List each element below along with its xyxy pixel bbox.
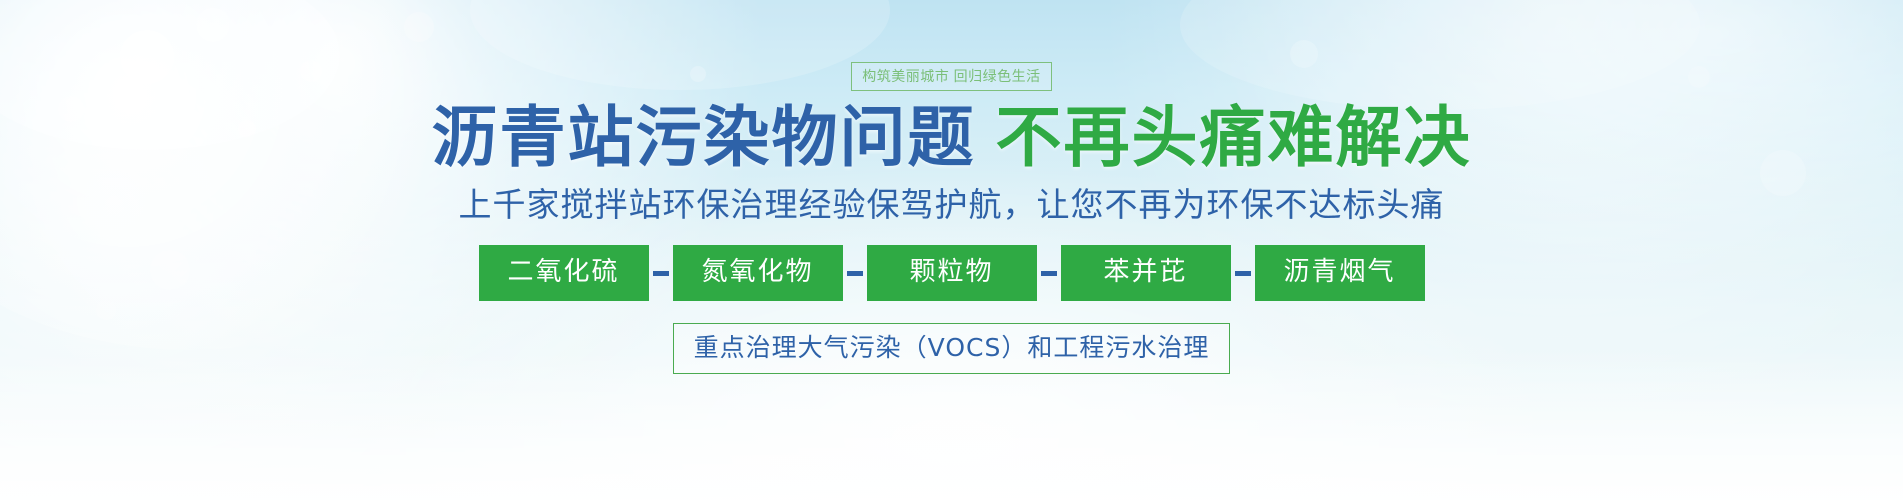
dash-icon <box>847 271 863 276</box>
button-separator <box>843 271 867 276</box>
hero-banner: 构筑美丽城市 回归绿色生活 沥青站污染物问题不再头痛难解决 上千家搅拌站环保治理… <box>0 0 1903 500</box>
headline-primary-text: 沥青站污染物问题 <box>432 99 976 176</box>
page-title: 沥青站污染物问题不再头痛难解决 <box>432 105 1472 171</box>
pollutant-button-asphalt-fume[interactable]: 沥青烟气 <box>1255 245 1425 301</box>
pollutant-button-benzopyrene[interactable]: 苯并芘 <box>1061 245 1231 301</box>
footer-note-box: 重点治理大气污染（VOCS）和工程污水治理 <box>673 323 1231 374</box>
headline-accent-text: 不再头痛难解决 <box>996 99 1472 176</box>
pollutant-button-so2[interactable]: 二氧化硫 <box>479 245 649 301</box>
banner-content: 构筑美丽城市 回归绿色生活 沥青站污染物问题不再头痛难解决 上千家搅拌站环保治理… <box>0 0 1903 500</box>
pollutant-button-particles[interactable]: 颗粒物 <box>867 245 1037 301</box>
tagline-badge: 构筑美丽城市 回归绿色生活 <box>851 62 1051 91</box>
button-separator <box>1037 271 1061 276</box>
pollutant-button-nox[interactable]: 氮氧化物 <box>673 245 843 301</box>
button-separator <box>649 271 673 276</box>
subtitle-text: 上千家搅拌站环保治理经验保驾护航，让您不再为环保不达标头痛 <box>459 187 1445 223</box>
pollutant-button-group: 二氧化硫 氮氧化物 颗粒物 苯并芘 沥青烟气 <box>479 245 1425 301</box>
dash-icon <box>653 271 669 276</box>
dash-icon <box>1235 271 1251 276</box>
dash-icon <box>1041 271 1057 276</box>
button-separator <box>1231 271 1255 276</box>
